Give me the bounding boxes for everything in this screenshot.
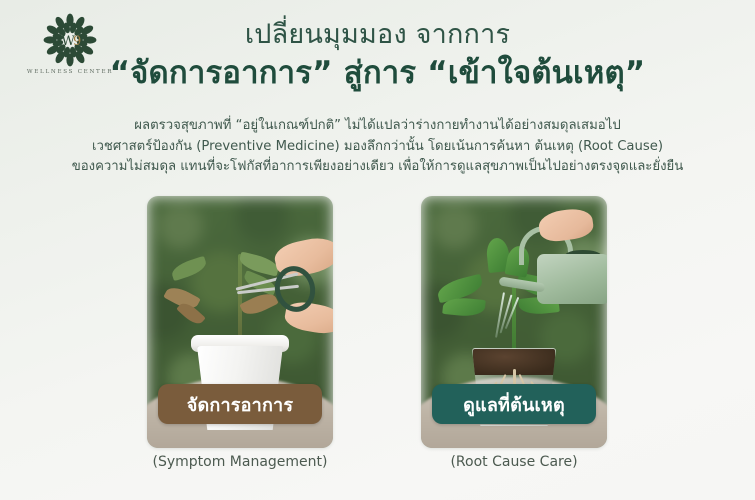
- comparison-row: จัดการอาการ (Symptom Management): [0, 196, 755, 486]
- caption-root-cause-care: (Root Cause Care): [421, 454, 607, 470]
- headline-line-2: “จัดการอาการ” สู่การ “เข้าใจต้นเหตุ”: [0, 53, 755, 93]
- body-line-2: เวชศาสตร์ป้องกัน (Preventive Medicine) ม…: [0, 137, 755, 158]
- badge-symptom-management: จัดการอาการ: [158, 384, 322, 424]
- photo-wilting-plant-pruning: จัดการอาการ: [147, 196, 333, 448]
- body-line-1: ผลตรวจสุขภาพที่ “อยู่ในเกณฑ์ปกติ” ไม่ได้…: [0, 116, 755, 137]
- caption-symptom-management: (Symptom Management): [147, 454, 333, 470]
- headline-line-1: เปลี่ยนมุมมอง จากการ: [0, 18, 755, 52]
- badge-root-cause-care: ดูแลที่ต้นเหตุ: [432, 384, 596, 424]
- headline-block: เปลี่ยนมุมมอง จากการ “จัดการอาการ” สู่กา…: [0, 18, 755, 93]
- comparison-panel-symptom: จัดการอาการ (Symptom Management): [147, 196, 333, 448]
- slide-canvas: W 9 WELLNESS CENTER เปลี่ยนมุมมอง จากการ…: [0, 0, 755, 500]
- plant-stem: [512, 286, 516, 356]
- body-copy-block: ผลตรวจสุขภาพที่ “อยู่ในเกณฑ์ปกติ” ไม่ได้…: [0, 116, 755, 178]
- comparison-panel-root-cause: ดูแลที่ต้นเหตุ (Root Cause Care): [421, 196, 607, 448]
- photo-healthy-plant-watering: ดูแลที่ต้นเหตุ: [421, 196, 607, 448]
- watering-can-icon: [537, 254, 607, 304]
- plant-stem: [238, 254, 242, 342]
- body-line-3: ของความไม่สมดุล แทนที่จะโฟกัสที่อาการเพี…: [0, 157, 755, 178]
